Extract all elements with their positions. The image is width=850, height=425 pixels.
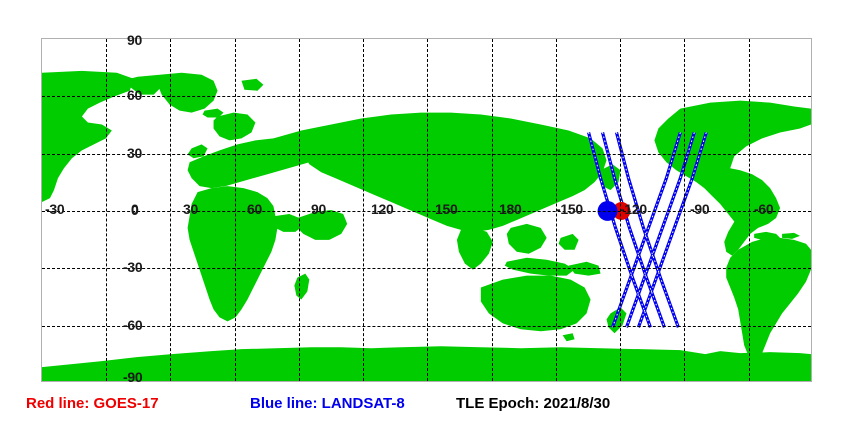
land-madagascar <box>294 274 309 300</box>
legend-blue-line: Blue line: LANDSAT-8 <box>250 396 405 411</box>
land-greenland <box>158 73 218 113</box>
lon-label-0: 0 <box>131 202 139 216</box>
lat-label-60: 60 <box>127 88 142 102</box>
lon-label-60: 60 <box>247 202 262 216</box>
legend-tle-epoch: TLE Epoch: 2021/8/30 <box>456 396 610 411</box>
land-svalbard <box>241 79 263 91</box>
land-south-america <box>726 238 811 359</box>
lon-label-30: 30 <box>183 202 198 216</box>
land-png <box>569 262 601 276</box>
lon-label-m60: -60 <box>754 202 773 216</box>
land-africa <box>188 186 278 321</box>
orbit-track-2 <box>603 132 665 327</box>
lat-label-m90: -90 <box>123 370 142 384</box>
land-southeast-asia <box>507 224 547 254</box>
lon-label-m30: -30 <box>45 202 64 216</box>
legend: Red line: GOES-17 Blue line: LANDSAT-8 T… <box>0 392 850 420</box>
landmass-layer <box>42 71 811 381</box>
lat-label-30: 30 <box>127 146 142 160</box>
orbit-track-5 <box>626 132 694 327</box>
land-cuba <box>782 233 800 239</box>
lon-label-m120: -120 <box>620 202 647 216</box>
lon-label-90: 90 <box>311 202 326 216</box>
land-europe <box>188 138 322 188</box>
marker-landsat-8 <box>598 201 618 221</box>
lat-label-m30: -30 <box>123 260 142 274</box>
land-philippines <box>559 234 579 250</box>
lon-label-m90: -90 <box>690 202 709 216</box>
land-north-america-alaska <box>654 101 811 230</box>
land-india <box>457 228 493 270</box>
land-tasmania <box>563 333 575 341</box>
lon-label-120: 120 <box>371 202 393 216</box>
lat-label-m60: -60 <box>123 318 142 332</box>
lon-label-m150: -150 <box>556 202 583 216</box>
legend-red-line: Red line: GOES-17 <box>26 396 159 411</box>
land-indonesia <box>505 258 575 276</box>
land-antarctica <box>42 346 811 381</box>
land-australia <box>481 276 591 332</box>
lon-label-150: 150 <box>435 202 457 216</box>
land-north-america <box>42 71 134 202</box>
orbit-track-1 <box>589 132 651 327</box>
lat-label-90: 90 <box>127 33 142 47</box>
land-scandinavia <box>214 113 256 141</box>
lon-label-180: 180 <box>499 202 521 216</box>
